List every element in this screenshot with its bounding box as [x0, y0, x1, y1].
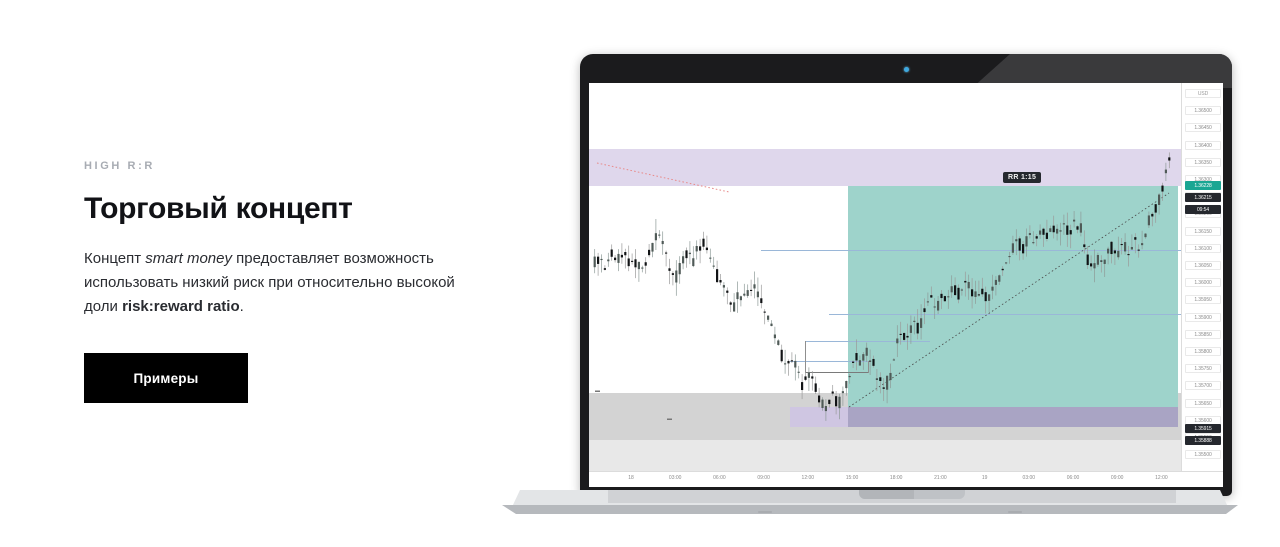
section-description: Концепт smart money предоставляет возмож… [84, 247, 476, 320]
price-tick: 1.36100 [1185, 244, 1221, 253]
time-tick: 18 [628, 475, 634, 481]
time-tick: 03:00 [1023, 475, 1036, 481]
price-tick: 1.36500 [1185, 106, 1221, 115]
time-tick: 09:00 [757, 475, 770, 481]
base-foot-right [1008, 511, 1022, 513]
entry-target-dotted-line [849, 193, 1169, 407]
time-tick: 21:00 [934, 475, 947, 481]
price-axis[interactable]: USD1.365001.364501.364001.363501.363001.… [1181, 83, 1223, 471]
candlestick-series [589, 83, 1181, 471]
chart-note-left: ▬ [595, 388, 600, 394]
time-tick: 09:00 [1111, 475, 1124, 481]
price-tick: 1.35950 [1185, 295, 1221, 304]
laptop-mockup: ▬ ▬ RR 1:15 USD1.365001.364501.364001.36… [490, 50, 1250, 540]
base-foot-left [758, 511, 772, 513]
price-tick: 1.35900 [1185, 313, 1221, 322]
time-tick: 12:00 [1155, 475, 1168, 481]
description-strong: risk:reward ratio [122, 298, 240, 315]
price-tick: 1.36350 [1185, 158, 1221, 167]
price-tick-highlight: 1.36215 [1185, 193, 1221, 202]
description-part-1: Концепт [84, 250, 145, 267]
price-tick: 1.36150 [1185, 227, 1221, 236]
price-tick: 1.35700 [1185, 381, 1221, 390]
webcam-dot-icon [904, 67, 909, 72]
chart-note-left2: ▬ [667, 416, 672, 422]
price-tick-highlight: 09:54 [1185, 205, 1221, 214]
description-emphasis: smart money [145, 250, 232, 267]
price-tick: 1.36400 [1185, 141, 1221, 150]
section-eyebrow: HIGH R:R [84, 160, 484, 172]
price-tick: 1.35650 [1185, 399, 1221, 408]
page-title: Торговый концепт [84, 192, 484, 226]
text-column: HIGH R:R Торговый концепт Концепт smart … [84, 160, 484, 319]
time-tick: 15:00 [846, 475, 859, 481]
price-tick-highlight: 1.35915 [1185, 424, 1221, 433]
rr-ratio-badge: RR 1:15 [1003, 172, 1041, 183]
price-tick: 1.36450 [1185, 123, 1221, 132]
landing-section: HIGH R:R Торговый концепт Концепт smart … [0, 0, 1280, 547]
laptop-screen: ▬ ▬ RR 1:15 USD1.365001.364501.364001.36… [589, 83, 1223, 487]
laptop-lid: ▬ ▬ RR 1:15 USD1.365001.364501.364001.36… [580, 54, 1232, 496]
time-tick: 03:00 [669, 475, 682, 481]
description-part-3: . [240, 298, 244, 315]
price-tick: 1.35750 [1185, 364, 1221, 373]
trading-chart-plot[interactable]: ▬ ▬ RR 1:15 [589, 83, 1181, 471]
time-tick: 06:00 [713, 475, 726, 481]
time-tick: 12:00 [802, 475, 815, 481]
price-tick: 1.35850 [1185, 330, 1221, 339]
examples-button[interactable]: Примеры [84, 353, 248, 403]
price-tick: 1.35800 [1185, 347, 1221, 356]
price-tick-highlight: 1.35888 [1185, 436, 1221, 445]
price-tick: USD [1185, 89, 1221, 98]
time-tick: 19 [982, 475, 988, 481]
price-tick-highlight: 1.36228 [1185, 181, 1221, 190]
base-trackpad-notch-shadow [859, 490, 914, 499]
time-axis[interactable]: 1803:0006:0009:0012:0015:0018:0021:00190… [589, 471, 1223, 487]
downtrend-dotted-line [597, 163, 729, 192]
laptop-base [490, 490, 1250, 516]
time-tick: 06:00 [1067, 475, 1080, 481]
candles-group [594, 152, 1171, 420]
price-tick: 1.36000 [1185, 278, 1221, 287]
base-top-surface [512, 490, 1228, 507]
base-front-edge [502, 505, 1238, 514]
price-tick: 1.35500 [1185, 450, 1221, 459]
price-tick: 1.36050 [1185, 261, 1221, 270]
time-tick: 18:00 [890, 475, 903, 481]
